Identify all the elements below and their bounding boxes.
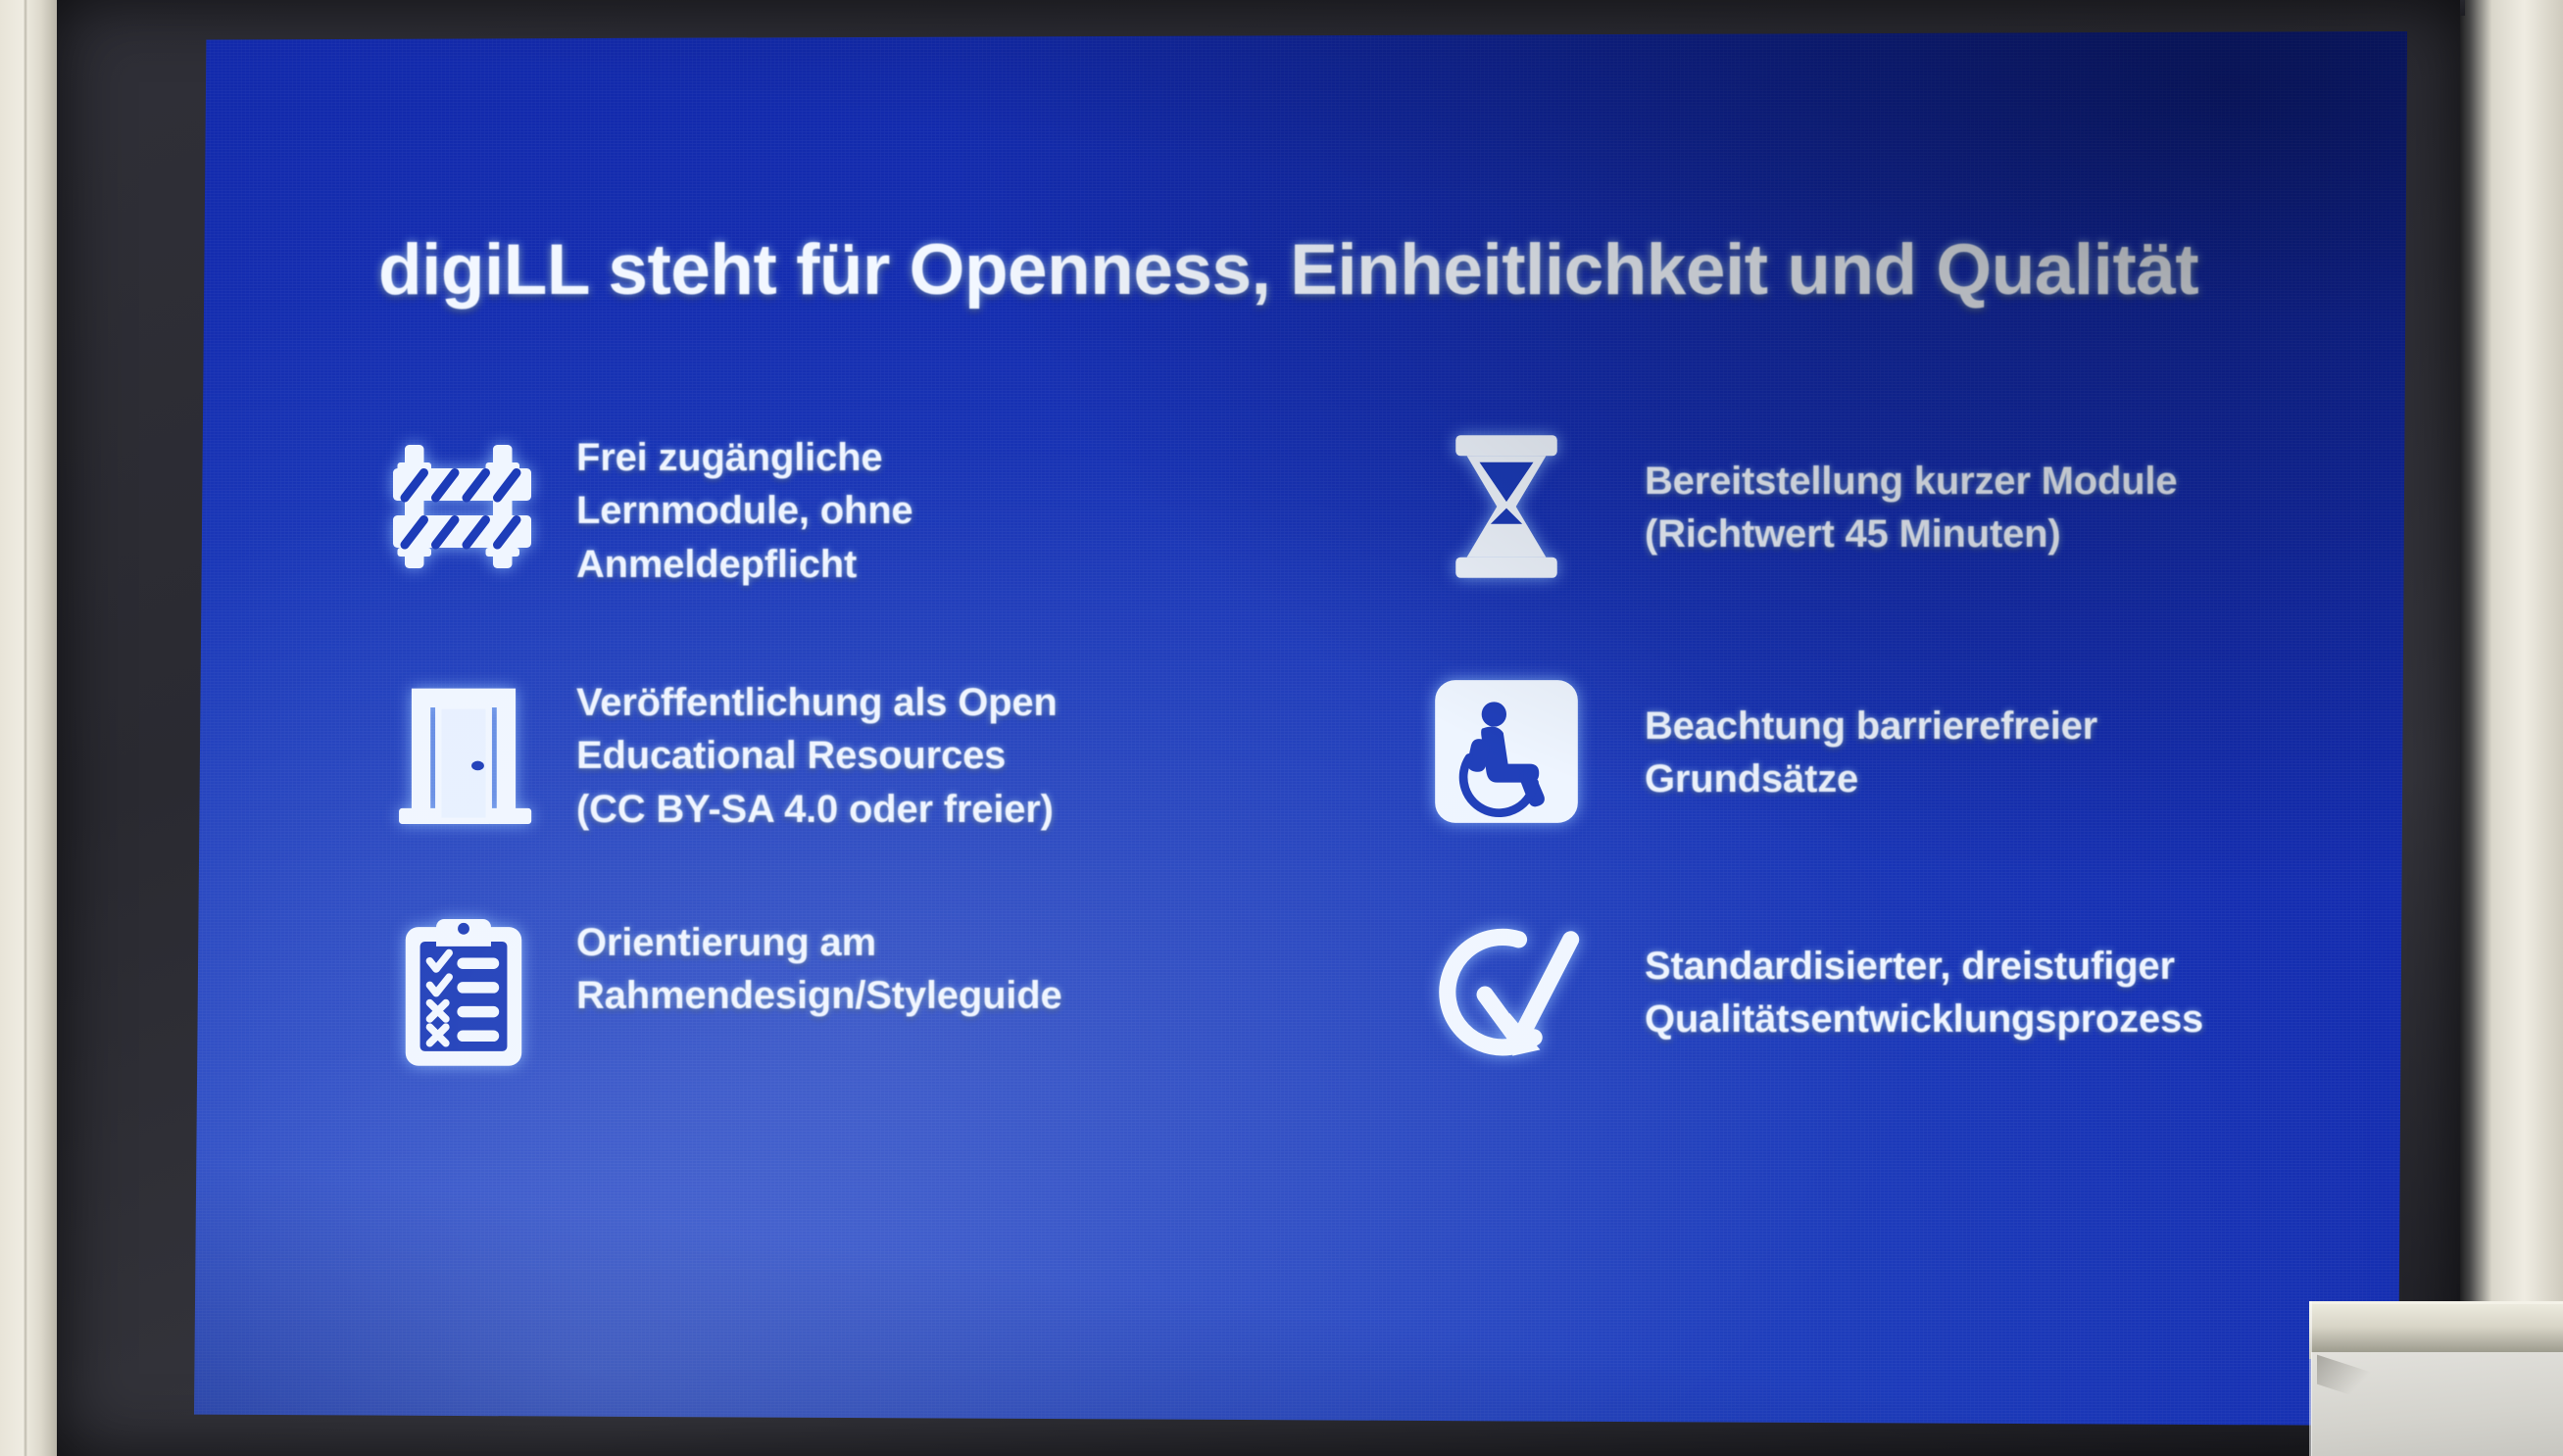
room-wall-left — [0, 0, 57, 1456]
wall-seam — [24, 0, 27, 1456]
feature-text-line: Anmeldepflicht — [576, 538, 912, 591]
barrier-icon — [361, 413, 567, 600]
room-wall-right — [2455, 0, 2563, 1456]
feature-text-line: Lernmodule, ohne — [576, 484, 912, 537]
feature-text: Veröffentlichung als Open Educational Re… — [567, 658, 1058, 836]
page-title: digiLL steht für Openness, Einheitlichke… — [378, 232, 2299, 308]
feature-text: Beachtung barrierefreier Grundsätze — [1609, 658, 2097, 806]
feature-text-line: (CC BY-SA 4.0 oder freier) — [576, 783, 1058, 836]
feature-text-line: Rahmendesign/Styleguide — [576, 969, 1062, 1022]
presentation-slide: digiLL steht für Openness, Einheitlichke… — [194, 31, 2407, 1426]
feature-text-line: Bereitstellung kurzer Module — [1645, 455, 2177, 508]
projected-slide-photo: digiLL steht für Openness, Einheitlichke… — [0, 0, 2563, 1456]
feature-text-line: Veröffentlichung als Open — [576, 676, 1058, 729]
feature-grid: Frei zugängliche Lernmodule, ohne Anmeld… — [361, 413, 2331, 1143]
feature-item-module-length: Bereitstellung kurzer Module (Richtwert … — [1366, 413, 2331, 658]
feature-text-line: Orientierung am — [576, 916, 1062, 969]
feature-text-line: Grundsätze — [1645, 752, 2097, 805]
feature-text-line: Standardisierter, dreistufiger — [1645, 940, 2203, 993]
feature-text-line: Beachtung barrierefreier — [1645, 700, 2097, 752]
feature-text-line: Frei zugängliche — [576, 431, 912, 484]
feature-text: Bereitstellung kurzer Module (Richtwert … — [1609, 413, 2177, 561]
feature-item-oer-licence: Veröffentlichung als Open Educational Re… — [361, 658, 1325, 898]
feature-text-line: Qualitätsentwicklungsprozess — [1645, 993, 2203, 1045]
clipboard-checklist-icon — [361, 898, 567, 1085]
wheelchair-accessibility-icon — [1404, 658, 1609, 845]
feature-item-quality-process: Standardisierter, dreistufiger Qualitäts… — [1366, 898, 2331, 1143]
feature-item-open-access: Frei zugängliche Lernmodule, ohne Anmeld… — [361, 413, 1325, 658]
feature-text-line: Educational Resources — [576, 729, 1058, 782]
refresh-check-icon — [1404, 898, 1609, 1085]
feature-text: Orientierung am Rahmendesign/Styleguide — [567, 898, 1062, 1023]
flipchart-foreground — [2301, 1295, 2563, 1456]
feature-item-styleguide: Orientierung am Rahmendesign/Styleguide — [361, 898, 1325, 1143]
open-door-icon — [361, 658, 567, 845]
feature-text: Frei zugängliche Lernmodule, ohne Anmeld… — [567, 413, 912, 591]
flipchart-edge — [2309, 1301, 2312, 1456]
flipchart-rail — [2309, 1301, 2563, 1359]
projection-screen-bezel: digiLL steht für Openness, Einheitlichke… — [57, 0, 2460, 1456]
feature-text-line: (Richtwert 45 Minuten) — [1645, 508, 2177, 560]
feature-item-accessibility: Beachtung barrierefreier Grundsätze — [1366, 658, 2331, 898]
feature-text: Standardisierter, dreistufiger Qualitäts… — [1609, 898, 2203, 1046]
hourglass-icon — [1404, 413, 1609, 600]
